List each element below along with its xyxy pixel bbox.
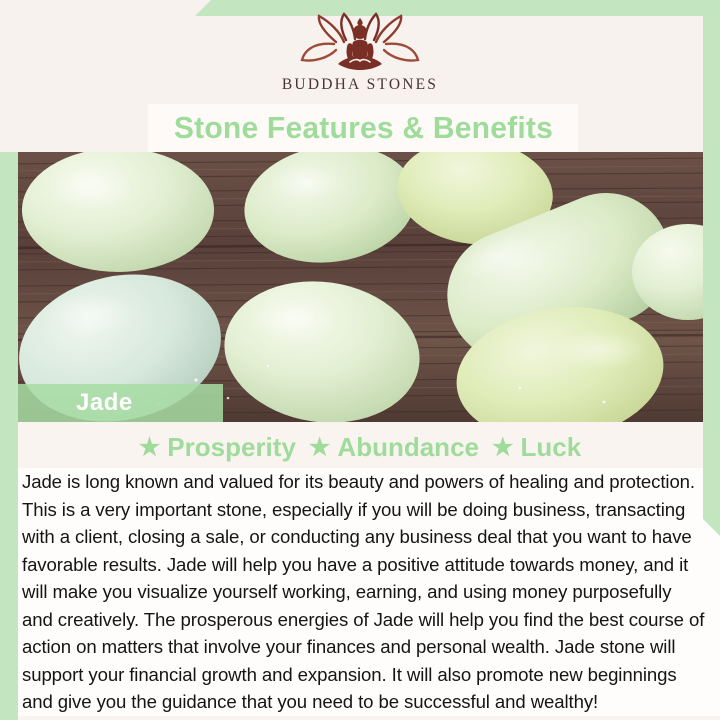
decor-green-right-strip xyxy=(703,0,720,536)
page-title: Stone Features & Benefits xyxy=(173,110,552,146)
section-title-band: Stone Features & Benefits xyxy=(148,104,578,152)
lotus-meditation-figure-icon xyxy=(296,12,424,74)
benefit-label: Abundance xyxy=(337,432,479,463)
decor-green-left-strip xyxy=(0,152,18,720)
brand-header: BUDDHA STONES xyxy=(0,0,720,106)
benefit-label: Prosperity xyxy=(167,432,296,463)
star-icon: ★ xyxy=(492,436,514,460)
stone-photo xyxy=(0,152,720,422)
brand-name: BUDDHA STONES xyxy=(282,76,438,94)
content-panel: ★ Prosperity ★ Abundance ★ Luck Jade is … xyxy=(0,422,720,720)
stone-description: Jade is long known and valued for its be… xyxy=(0,468,720,716)
infographic-card: BUDDHA STONES Stone Features & Benefits xyxy=(0,0,720,720)
benefit-label: Luck xyxy=(521,432,582,463)
benefit-prosperity: ★ Prosperity xyxy=(139,432,296,463)
benefits-row: ★ Prosperity ★ Abundance ★ Luck xyxy=(0,432,720,463)
benefit-luck: ★ Luck xyxy=(492,432,581,463)
benefit-abundance: ★ Abundance xyxy=(309,432,479,463)
star-icon: ★ xyxy=(139,436,161,460)
stone-name: Jade xyxy=(76,389,133,417)
stone-name-ribbon: Jade xyxy=(18,384,223,422)
star-icon: ★ xyxy=(309,436,331,460)
